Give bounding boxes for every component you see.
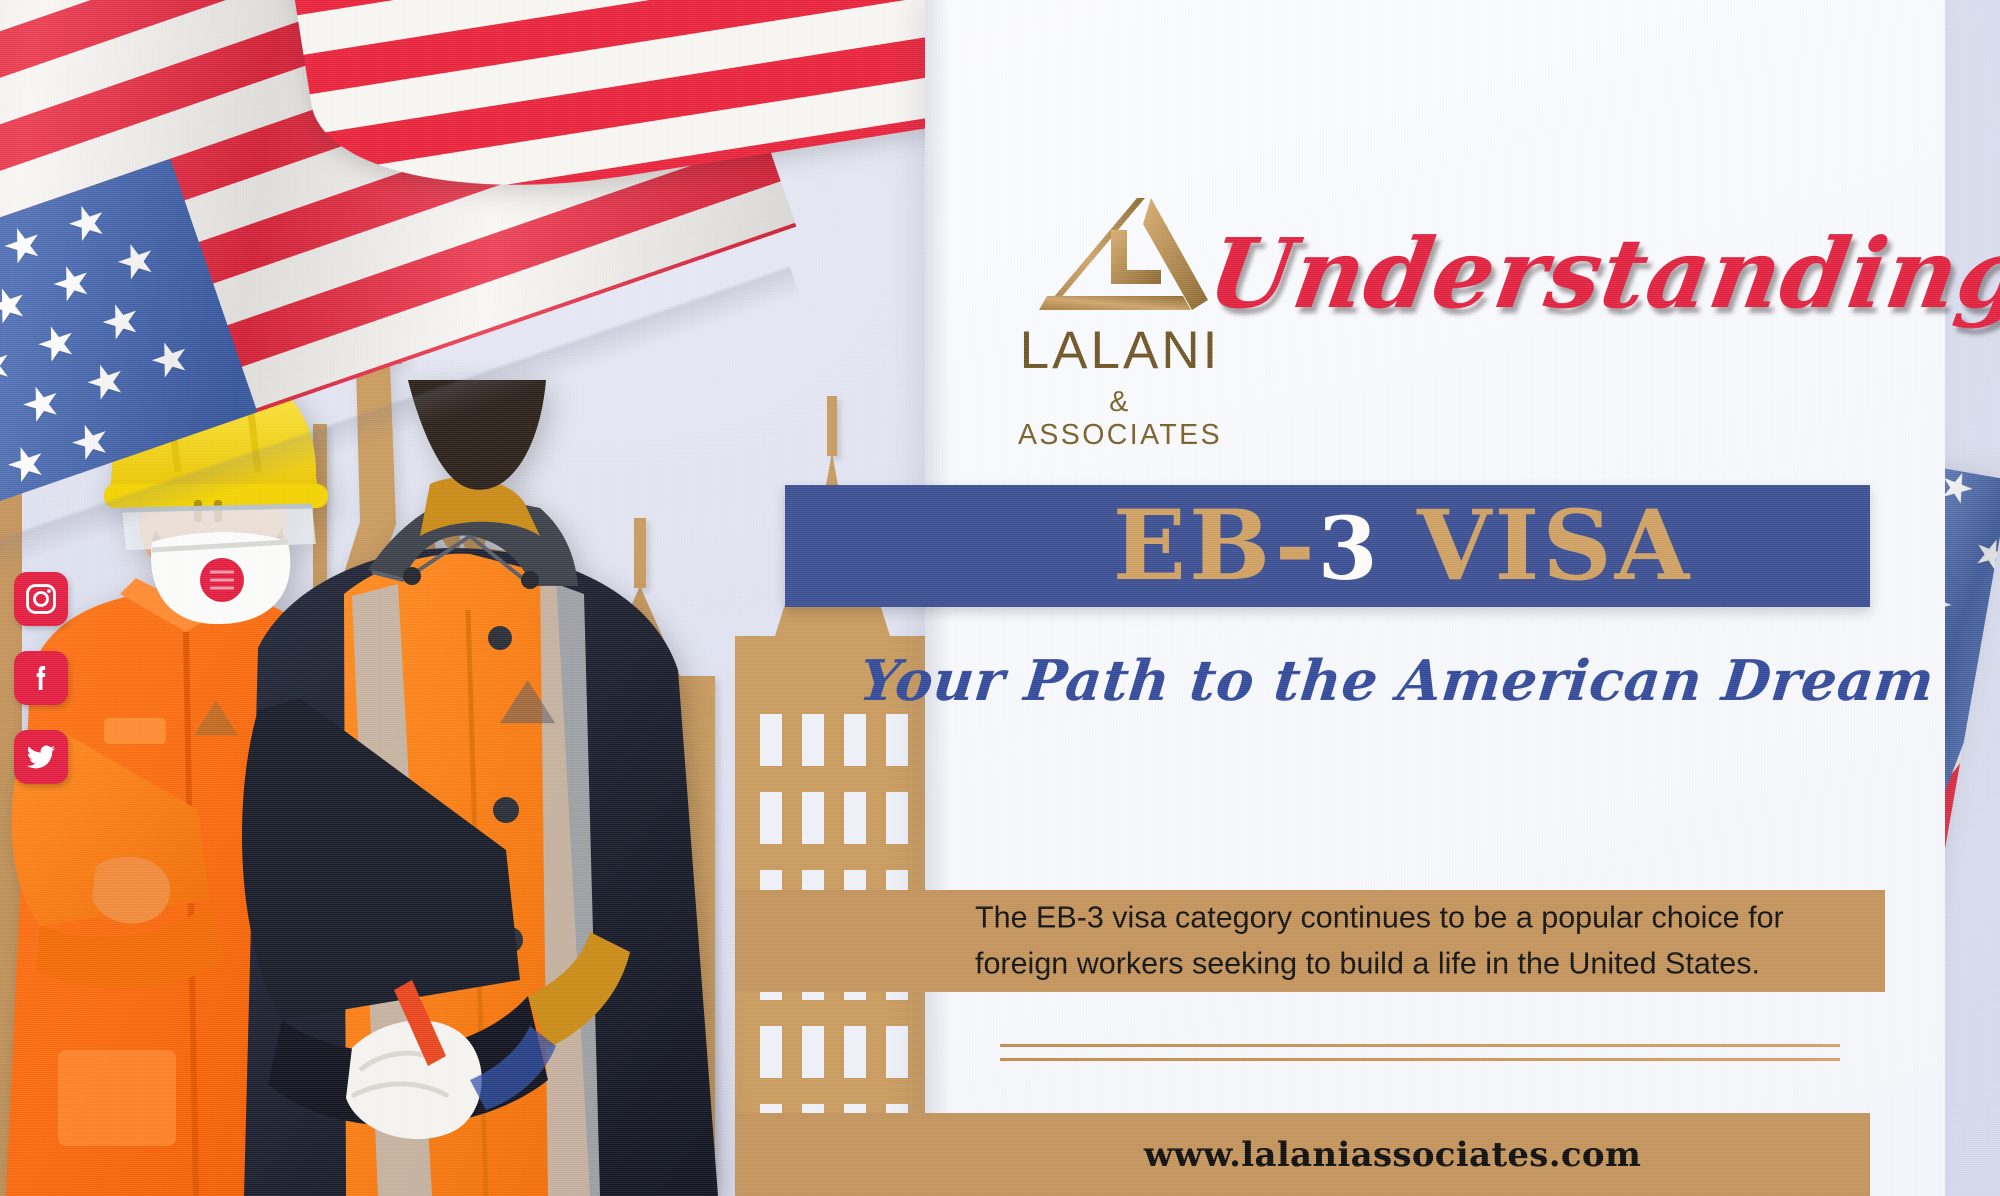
description-band: The EB-3 visa category continues to be a…: [735, 890, 1885, 992]
divider-line-bottom: [1000, 1058, 1840, 1061]
brand-subtitle: & ASSOCIATES: [1015, 386, 1225, 452]
website-url[interactable]: www.lalaniassociates.com: [735, 1135, 1870, 1175]
social-link-instagram[interactable]: [14, 572, 68, 626]
divider-rules: [1000, 1044, 1840, 1061]
facebook-icon: [25, 662, 57, 694]
twitter-icon: [24, 740, 58, 774]
script-headline: Understanding the: [1202, 226, 1907, 322]
brand-logo[interactable]: LALANI & ASSOCIATES: [1015, 196, 1225, 452]
title-bar: EB-3 VISA: [785, 485, 1870, 607]
brand-name: LALANI: [1015, 324, 1225, 377]
social-links: [14, 572, 78, 809]
social-link-twitter[interactable]: [14, 730, 68, 784]
lalani-triangle-logo-icon: [1033, 196, 1208, 314]
content-card: LALANI & ASSOCIATES Understanding the EB…: [925, 0, 1945, 1196]
divider-line-top: [1000, 1044, 1840, 1047]
marketing-banner: ★ ★ ★ ★ ★ ★ ★ ★ ★ ★ ★ ★ ★ ★ ★ ★ ★ ★ ★ ★ …: [0, 0, 2000, 1196]
footer-bar: www.lalaniassociates.com: [735, 1113, 1870, 1196]
social-link-facebook[interactable]: [14, 651, 68, 705]
description-text: The EB-3 visa category continues to be a…: [975, 895, 1805, 987]
workers-photo: [0, 380, 760, 1196]
page-title: EB-3 VISA: [785, 498, 1870, 594]
title-number: 3: [1318, 499, 1381, 600]
title-suffix: VISA: [1381, 489, 1693, 602]
instagram-icon: [24, 582, 58, 616]
title-prefix: EB-: [1113, 489, 1318, 602]
tagline: Your Path to the American Dream: [857, 648, 1904, 714]
